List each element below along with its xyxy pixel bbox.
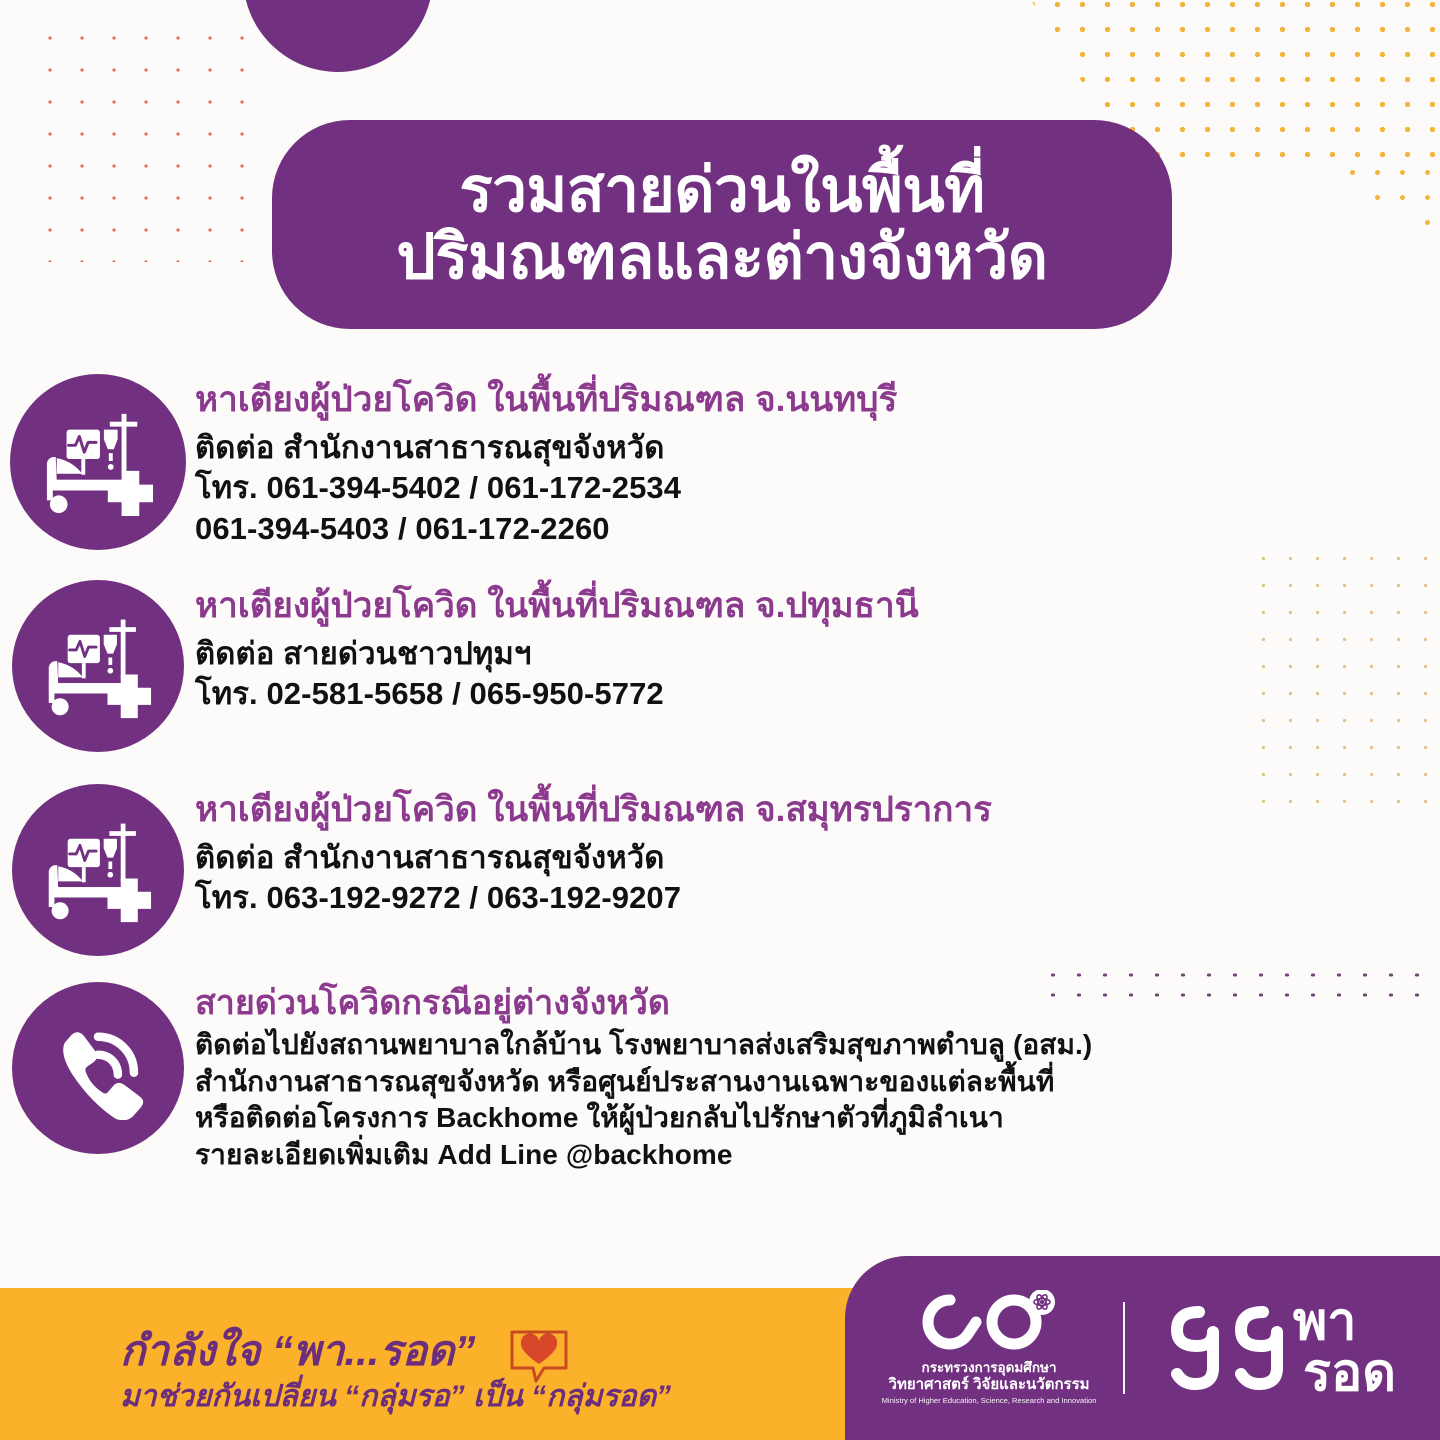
- campaign-word-2: รอด: [1303, 1348, 1396, 1399]
- ministry-name-thai-line-2: วิทยาศาสตร์ วิจัยและนวัตกรรม: [889, 1376, 1090, 1394]
- footer-slogan: กำลังใจ “พา...รอด” มาช่วยกันเปลี่ยน “กลุ…: [120, 1327, 780, 1414]
- footer-logo-row: กระทรวงการอุดมศึกษา วิทยาศาสตร์ วิจัยและ…: [845, 1256, 1440, 1440]
- hotline-item-pathumthani: หาเตียงผู้ป่วยโควิด ในพื้นที่ปริมณฑล จ.ป…: [0, 572, 1440, 752]
- hotline-text: หาเตียงผู้ป่วยโควิด ในพื้นที่ปริมณฑล จ.น…: [195, 366, 897, 549]
- hotline-phone-line: โทร. 063-192-9272 / 063-192-9207: [195, 878, 992, 918]
- hotline-text: สายด่วนโควิดกรณีอยู่ต่างจังหวัด ติดต่อไป…: [195, 978, 1092, 1174]
- hospital-bed-icon: [12, 784, 184, 956]
- icon-container: [0, 978, 195, 1154]
- campaign-word-1: พา: [1293, 1297, 1396, 1348]
- purple-circle-decoration: [243, 0, 433, 72]
- hotline-detail-line: ติดต่อ สำนักงานสาธารณสุขจังหวัด: [195, 838, 992, 878]
- hotline-heading: หาเตียงผู้ป่วยโควิด ในพื้นที่ปริมณฑล จ.ป…: [195, 586, 919, 625]
- hotline-item-upcountry: สายด่วนโควิดกรณีอยู่ต่างจังหวัด ติดต่อไป…: [0, 978, 1440, 1174]
- hotline-detail-line: ติดต่อ สายด่วนชาวปทุมฯ: [195, 634, 919, 674]
- page-title: รวมสายด่วนในพื้นที่ ปริมณฑลและต่างจังหวั…: [272, 120, 1172, 329]
- icon-container: [0, 572, 195, 752]
- footer: กำลังใจ “พา...รอด” มาช่วยกันเปลี่ยน “กลุ…: [0, 1288, 1440, 1440]
- hotline-line-contact: รายละเอียดเพิ่มเติม Add Line @backhome: [195, 1137, 1092, 1174]
- hotline-list: หาเตียงผู้ป่วยโควิด ในพื้นที่ปริมณฑล จ.น…: [0, 366, 1440, 1188]
- footer-slogan-line-2: มาช่วยกันเปลี่ยน “กลุ่มรอ” เป็น “กลุ่มรอ…: [120, 1380, 780, 1414]
- hotline-phone-line: 061-394-5403 / 061-172-2260: [195, 509, 897, 549]
- hospital-bed-icon: [12, 580, 184, 752]
- logo-divider: [1123, 1302, 1125, 1394]
- campaign-words: พา รอด: [1293, 1297, 1396, 1399]
- hotline-phone-line: โทร. 02-581-5658 / 065-950-5772: [195, 674, 919, 714]
- hotline-detail-line: สำนักงานสาธารณสุขจังหวัด หรือศูนย์ประสาน…: [195, 1064, 1092, 1101]
- page-title-line-2: ปริมณฑลและต่างจังหวัด: [396, 225, 1047, 292]
- hotline-heading: หาเตียงผู้ป่วยโควิด ในพื้นที่ปริมณฑล จ.ส…: [195, 790, 992, 829]
- page-title-line-1: รวมสายด่วนในพื้นที่: [459, 158, 984, 225]
- orange-dot-grid-decoration: [34, 22, 264, 262]
- hotline-text: หาเตียงผู้ป่วยโควิด ในพื้นที่ปริมณฑล จ.ป…: [195, 572, 919, 715]
- mhesi-infinity-atom-logo: [914, 1290, 1064, 1356]
- campaign-logo-block: พา รอด: [1159, 1297, 1396, 1399]
- hotline-heading: หาเตียงผู้ป่วยโควิด ในพื้นที่ปริมณฑล จ.น…: [195, 380, 897, 419]
- hotline-text: หาเตียงผู้ป่วยโควิด ในพื้นที่ปริมณฑล จ.ส…: [195, 776, 992, 919]
- heart-in-speech-bubble-icon: [508, 1328, 570, 1386]
- hotline-item-nonthaburi: หาเตียงผู้ป่วยโควิด ในพื้นที่ปริมณฑล จ.น…: [0, 366, 1440, 550]
- hotline-phone-line: โทร. 061-394-5402 / 061-172-2534: [195, 468, 897, 508]
- hotline-item-samutprakan: หาเตียงผู้ป่วยโควิด ในพื้นที่ปริมณฑล จ.ส…: [0, 776, 1440, 956]
- icon-container: [0, 776, 195, 956]
- phone-call-icon: [12, 982, 184, 1154]
- hotline-heading: สายด่วนโควิดกรณีอยู่ต่างจังหวัด: [195, 984, 1092, 1022]
- jor-wor-logo: [1159, 1298, 1289, 1398]
- ministry-name-thai-line-1: กระทรวงการอุดมศึกษา: [922, 1360, 1057, 1376]
- hospital-bed-icon: [10, 374, 186, 550]
- hotline-detail-line: ติดต่อไปยังสถานพยาบาลใกล้บ้าน โรงพยาบาลส…: [195, 1027, 1092, 1064]
- mhesi-logo-block: กระทรวงการอุดมศึกษา วิทยาศาสตร์ วิจัยและ…: [889, 1290, 1089, 1407]
- footer-slogan-line-1: กำลังใจ “พา...รอด”: [120, 1327, 780, 1374]
- infographic-canvas: รวมสายด่วนในพื้นที่ ปริมณฑลและต่างจังหวั…: [0, 0, 1440, 1440]
- icon-container: [0, 366, 195, 550]
- hotline-detail-line: หรือติดต่อโครงการ Backhome ให้ผู้ป่วยกลั…: [195, 1100, 1092, 1137]
- ministry-name-english: Ministry of Higher Education, Science, R…: [882, 1396, 1097, 1406]
- hotline-detail-line: ติดต่อ สำนักงานสาธารณสุขจังหวัด: [195, 428, 897, 468]
- gold-dot-wedge-decoration-secondary: [1140, 160, 1440, 280]
